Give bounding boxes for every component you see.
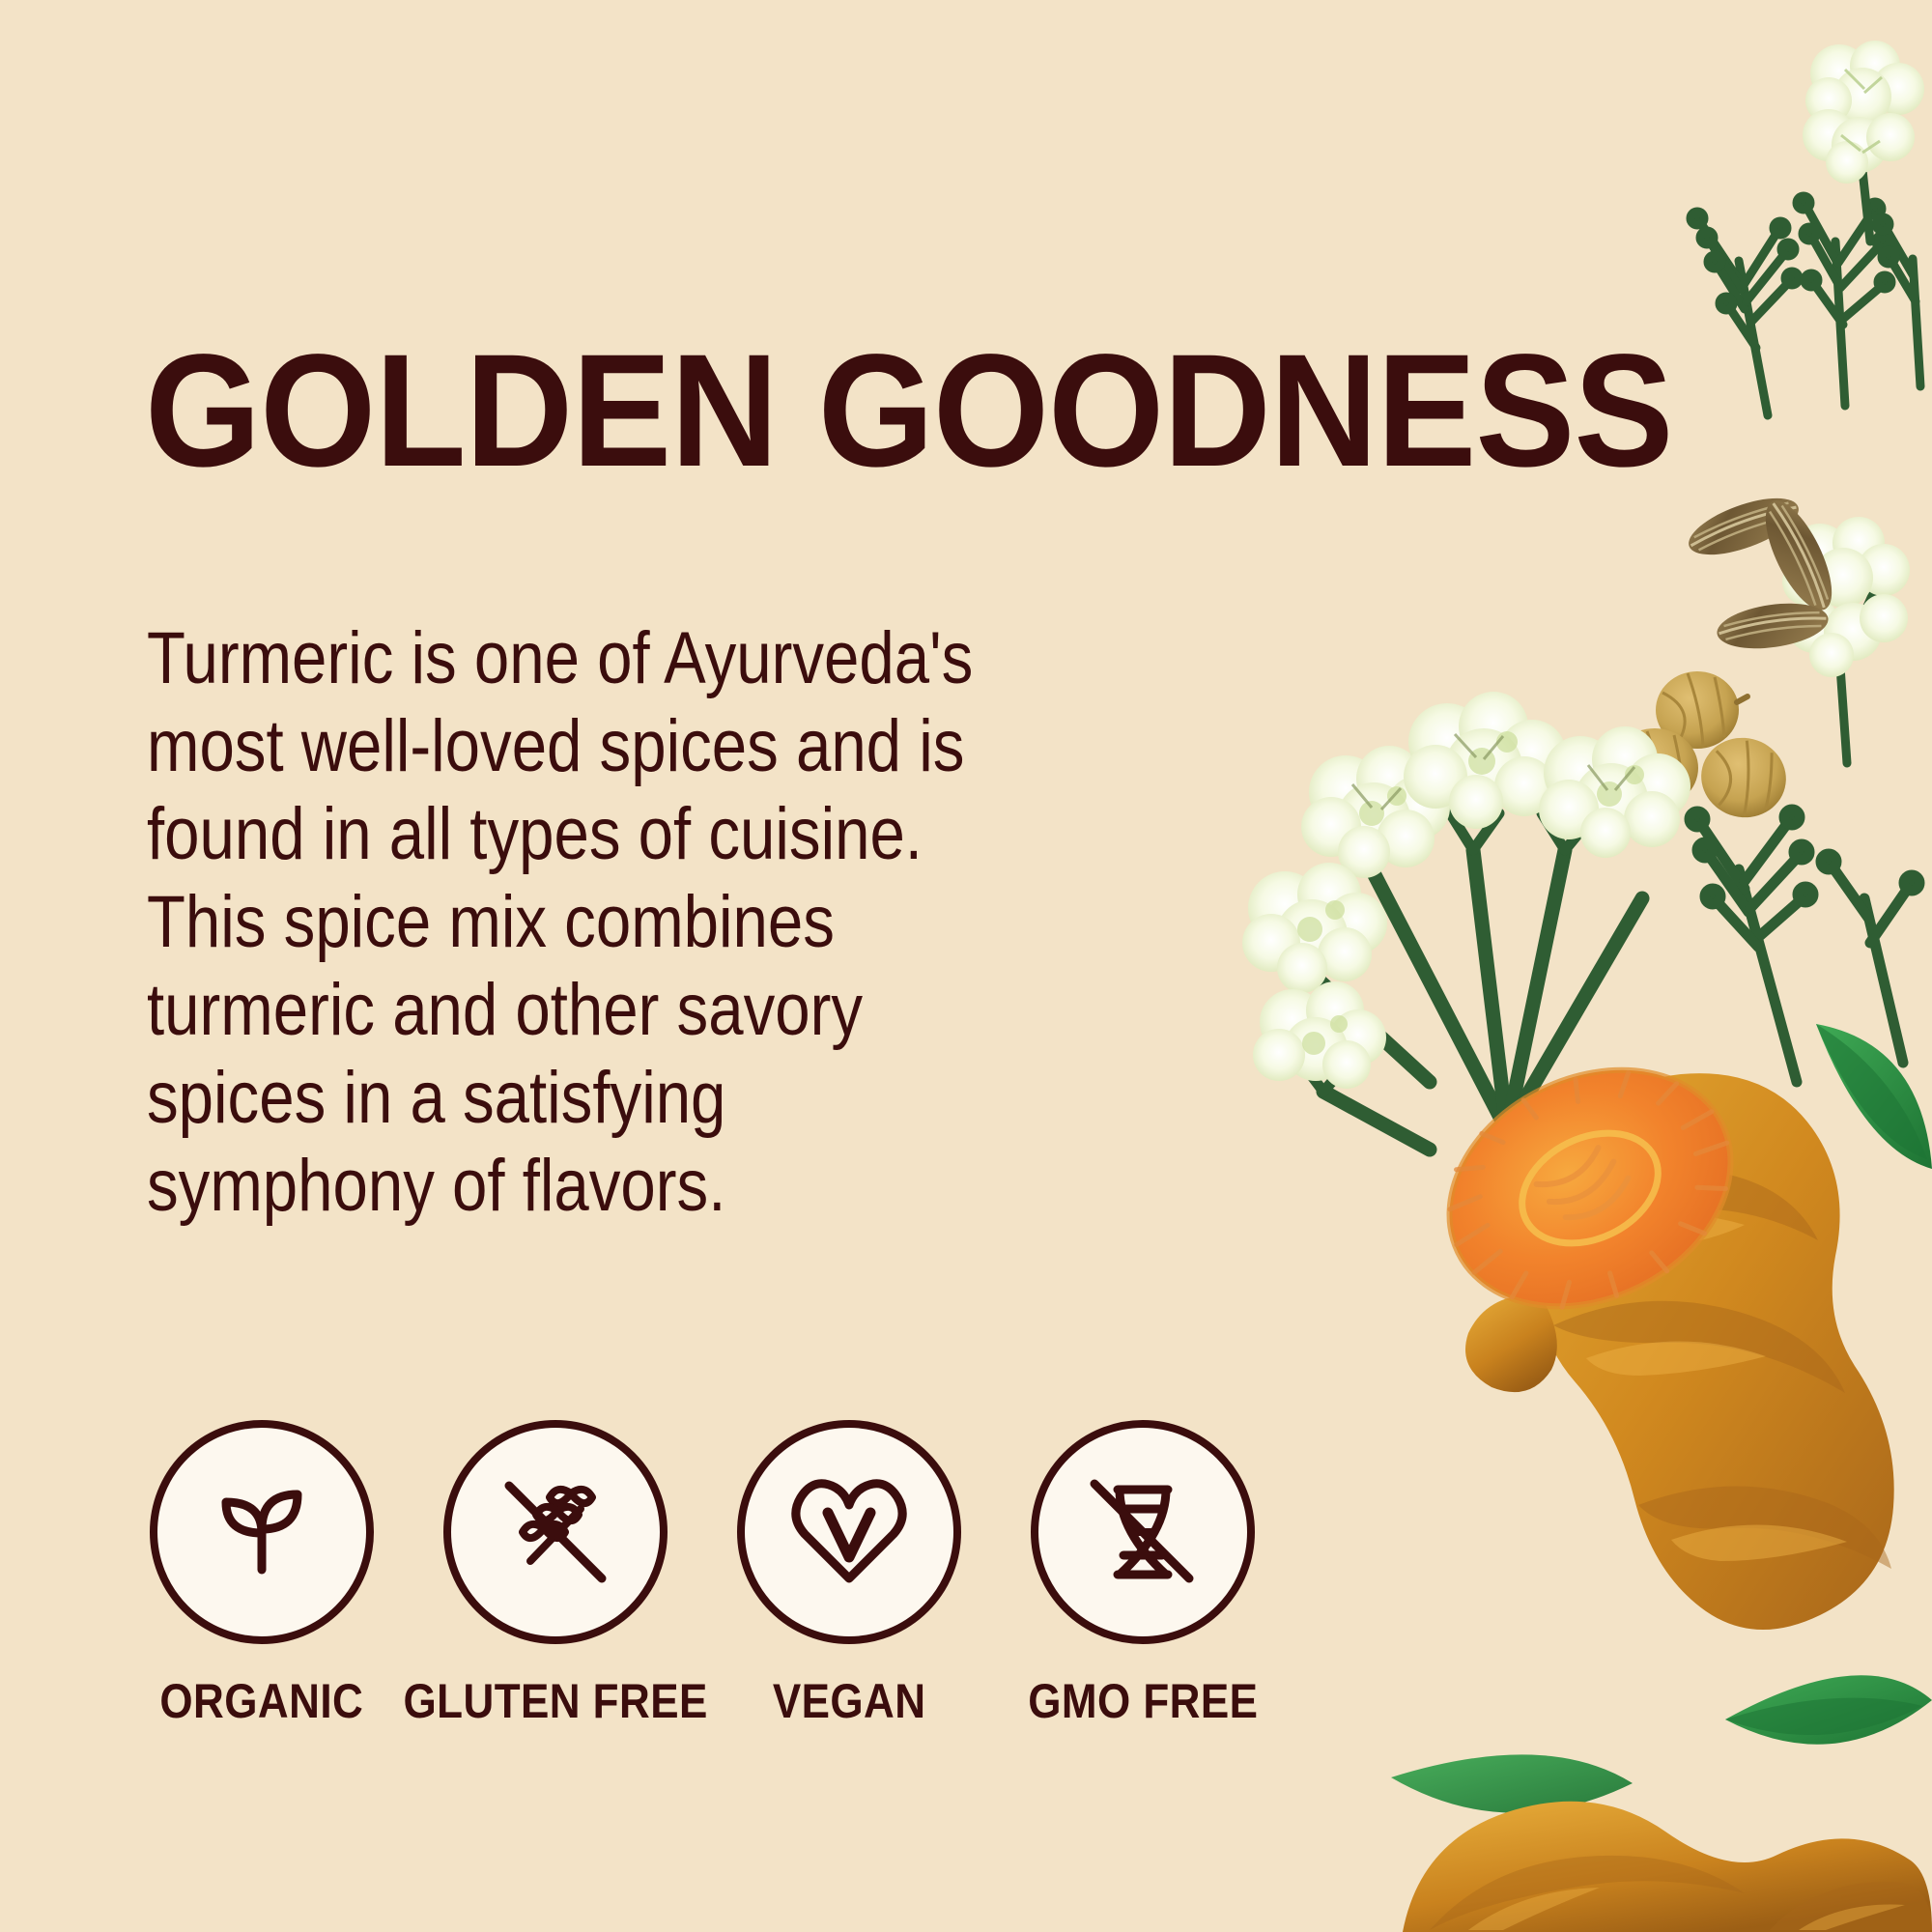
badge-organic[interactable]: ORGANIC	[143, 1420, 381, 1729]
badge-label-gmo-free: GMO FREE	[1028, 1673, 1258, 1729]
no-wheat-icon	[488, 1464, 623, 1600]
badge-label-vegan: VEGAN	[773, 1673, 926, 1729]
no-dna-icon	[1075, 1464, 1210, 1600]
badge-label-gluten-free: GLUTEN FREE	[403, 1673, 707, 1729]
badge-gmo-free[interactable]: GMO FREE	[1024, 1420, 1262, 1729]
page-title: GOLDEN GOODNESS	[145, 331, 1672, 492]
badge-label-organic: ORGANIC	[160, 1673, 364, 1729]
badge-vegan[interactable]: VEGAN	[730, 1420, 968, 1729]
badge-circle-organic	[150, 1420, 374, 1644]
badge-gluten-free[interactable]: GLUTEN FREE	[437, 1420, 674, 1729]
certification-badge-row: ORGANIC GLUTEN FREE	[143, 1420, 1262, 1729]
sprout-icon	[199, 1469, 325, 1595]
poster-canvas: GOLDEN GOODNESS Turmeric is one of Ayurv…	[0, 0, 1932, 1932]
description-paragraph: Turmeric is one of Ayurveda's most well-…	[147, 614, 1111, 1230]
badge-circle-gmo-free	[1031, 1420, 1255, 1644]
heart-vegan-icon	[785, 1468, 913, 1596]
badge-circle-gluten-free	[443, 1420, 668, 1644]
badge-circle-vegan	[737, 1420, 961, 1644]
